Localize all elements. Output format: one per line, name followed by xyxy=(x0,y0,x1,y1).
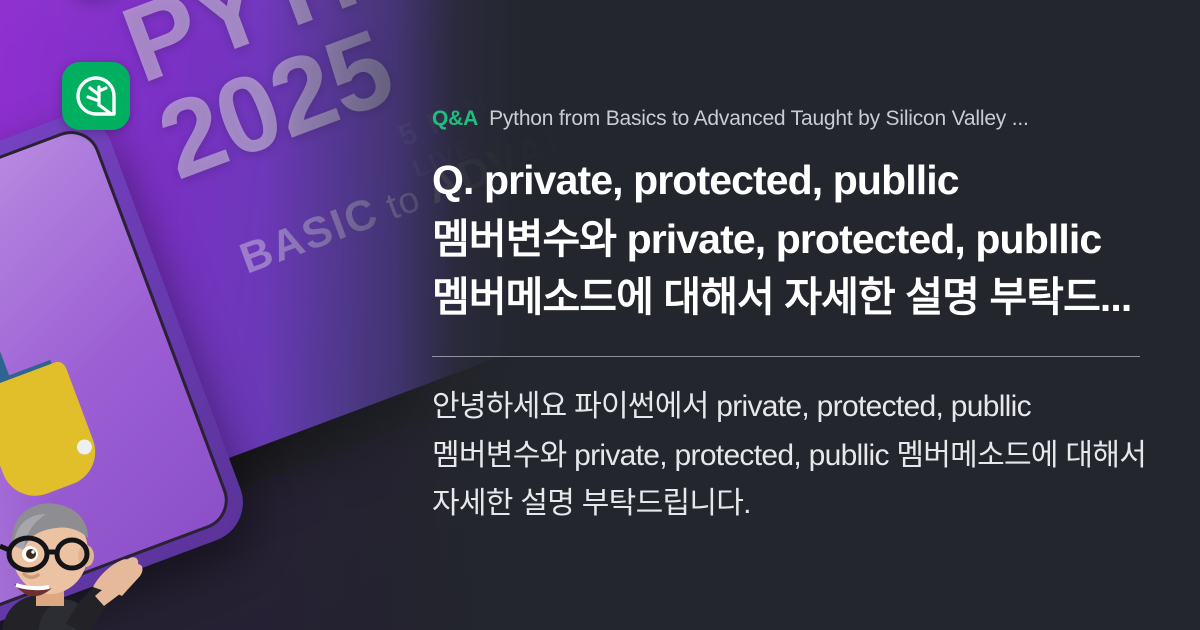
content-column: Q&A Python from Basics to Advanced Taugh… xyxy=(432,0,1148,630)
poster-subtitle-basic: BASIC xyxy=(234,188,386,283)
inflearn-logo[interactable] xyxy=(62,62,130,130)
question-headline: Q. private, protected, publlic 멤버변수와 pri… xyxy=(432,151,1148,326)
kicker-row: Q&A Python from Basics to Advanced Taugh… xyxy=(432,107,1148,131)
question-body: 안녕하세요 파이썬에서 private, protected, publlic … xyxy=(432,383,1148,529)
share-card: SILICON VALLEY ENGINEER PYTHON 2025 BASI… xyxy=(0,0,1200,630)
qa-tag: Q&A xyxy=(432,107,478,131)
course-title: Python from Basics to Advanced Taught by… xyxy=(489,107,1029,131)
python-logo-yellow-half xyxy=(0,359,105,505)
inflearn-leaf-icon xyxy=(74,74,118,118)
instructor-memoji xyxy=(0,488,144,630)
divider xyxy=(432,356,1140,357)
